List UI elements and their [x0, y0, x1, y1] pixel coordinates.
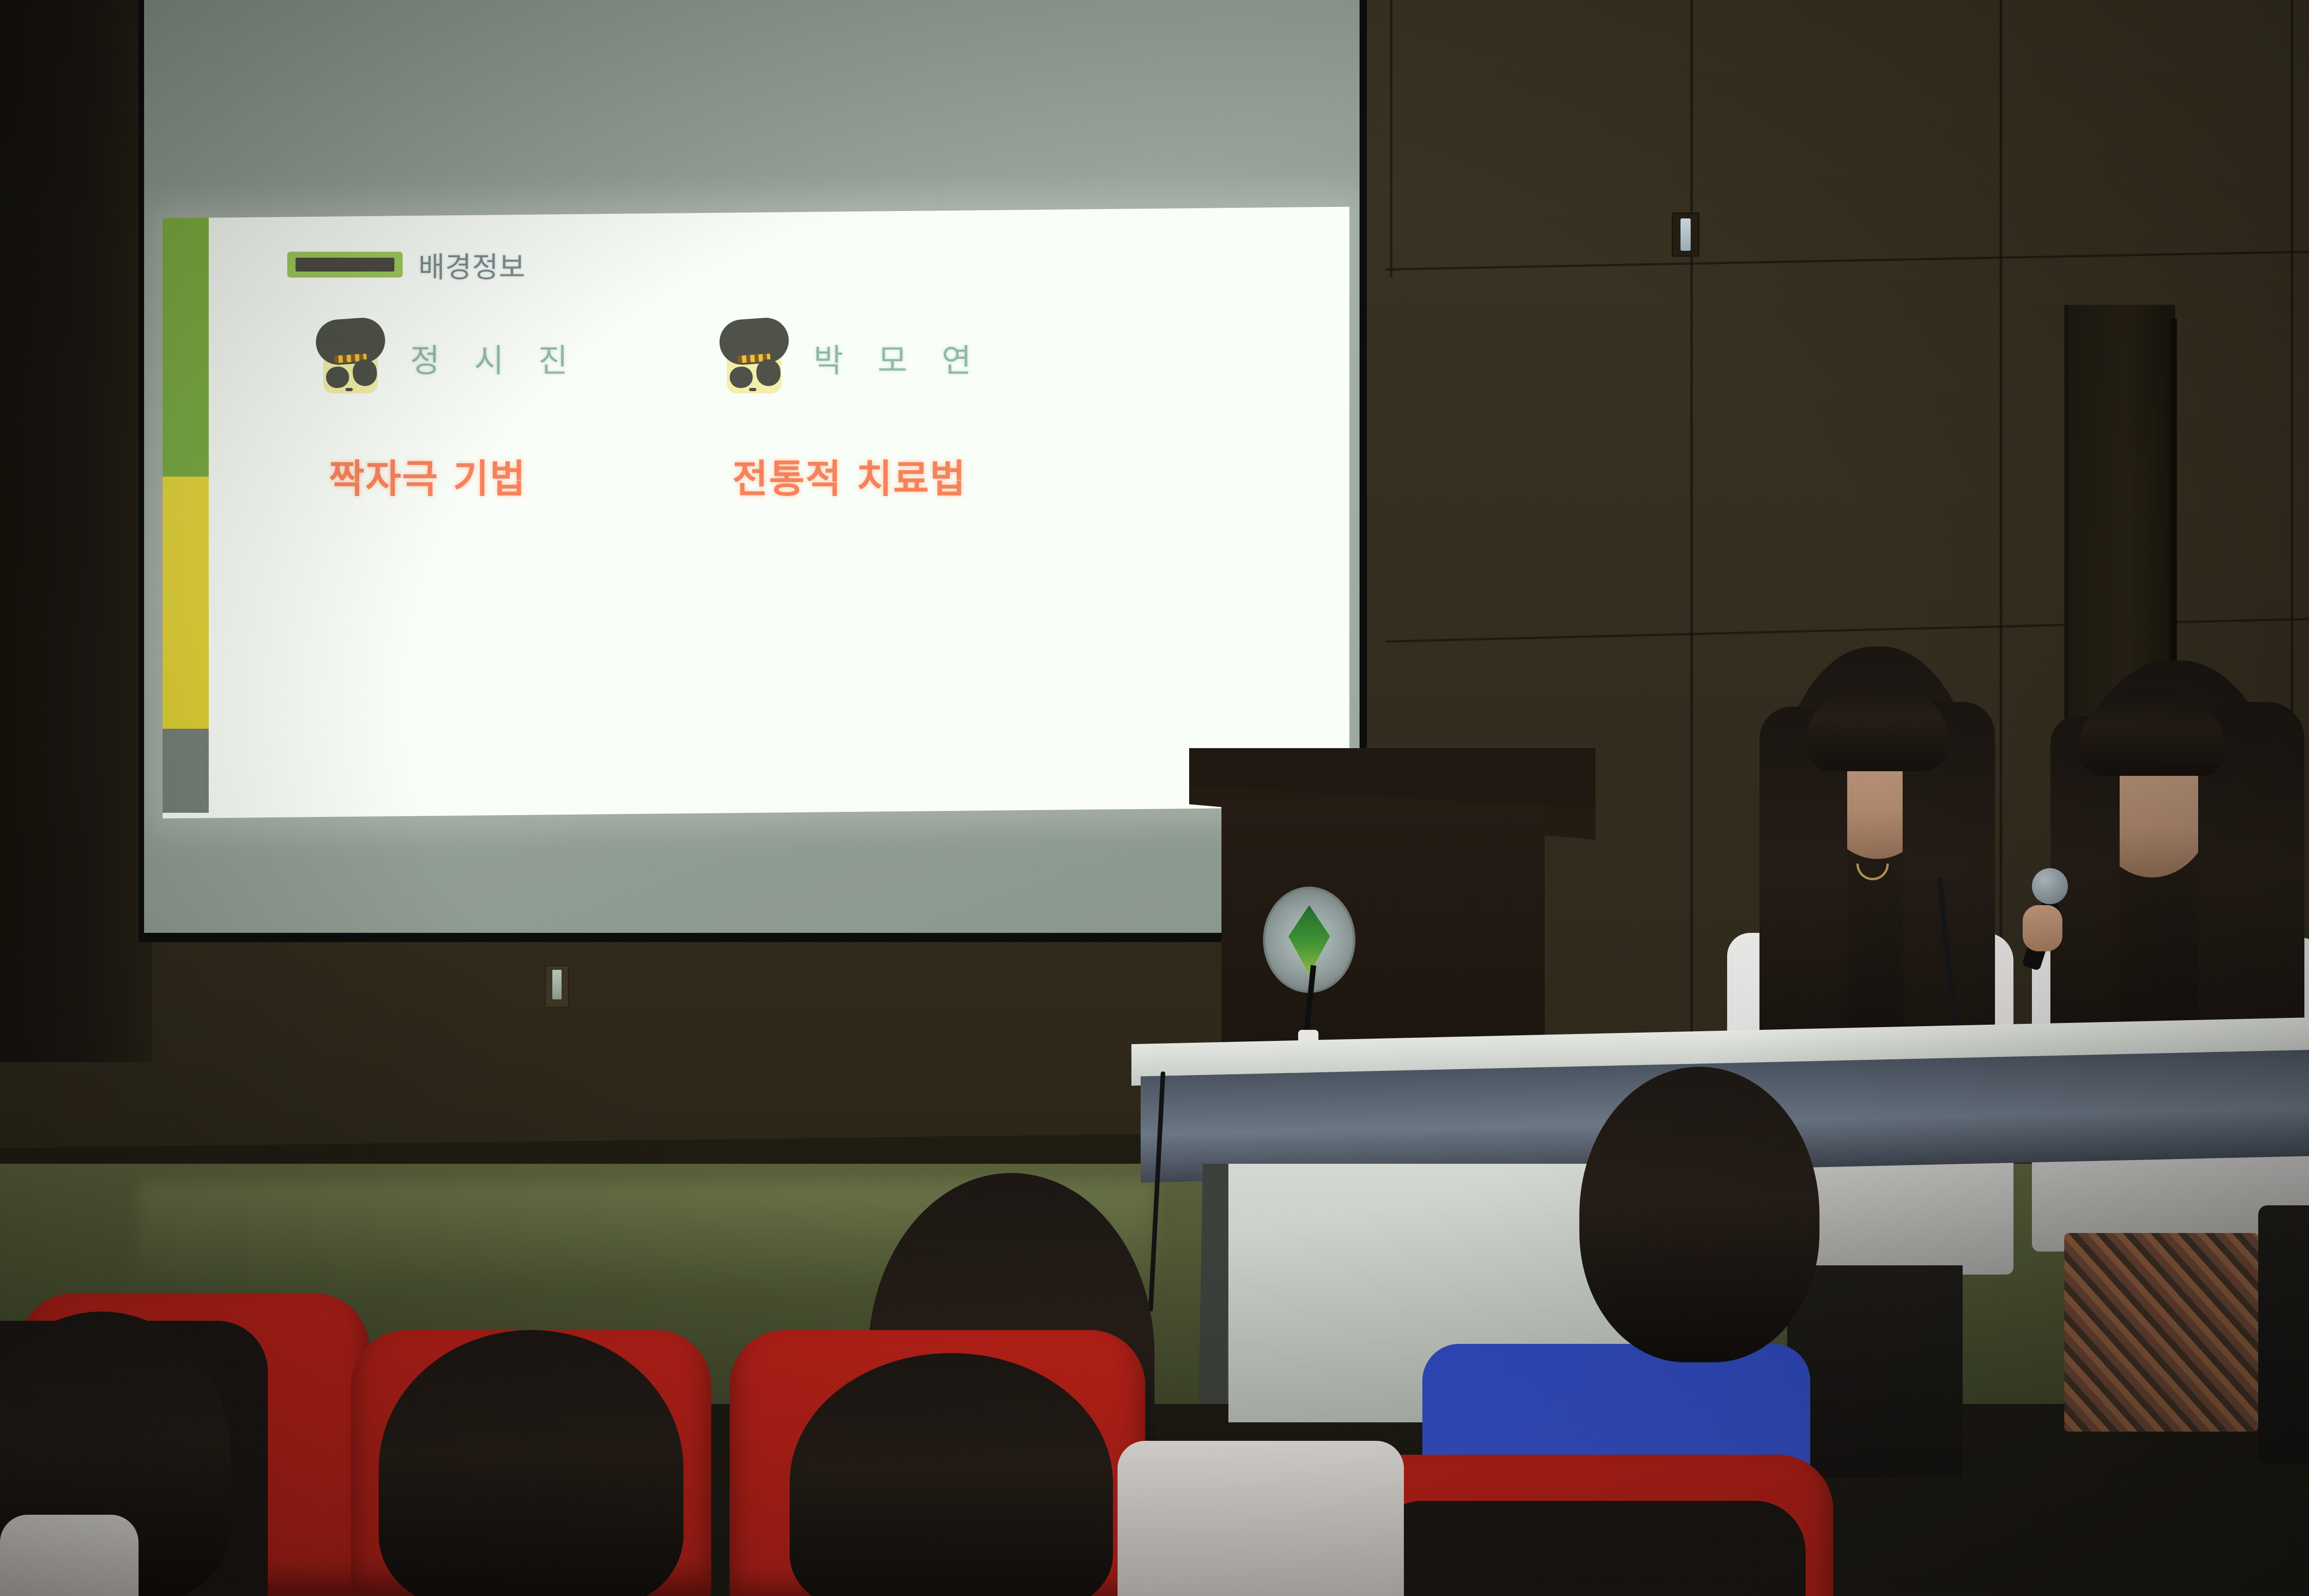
slide-header: 배경정보 — [287, 244, 526, 285]
audience-row-left-2 — [379, 1330, 702, 1596]
person-name: 정 시 진 — [410, 335, 580, 381]
presenter-legs — [1787, 1265, 1963, 1478]
left-wall-shadow — [0, 0, 152, 1062]
table-leg — [1198, 1164, 1230, 1404]
wall-seam — [1390, 0, 1392, 277]
slide-accent-bar — [163, 212, 209, 813]
cartoon-face-icon — [719, 319, 788, 397]
light-switch-icon[interactable] — [1672, 212, 1699, 257]
crest-diamond-icon — [1288, 905, 1330, 974]
slide-person-block: 박 모 연 전통적 치료법 — [719, 319, 984, 504]
presenter-bangs — [2078, 693, 2226, 776]
slide-person-columns: 정 시 진 짝자극 기법 박 모 연 전통적 치료법 — [315, 319, 1285, 504]
person-term: 짝자극 기법 — [329, 448, 526, 504]
audience-white-top — [1118, 1441, 1404, 1596]
presenter-legs — [2258, 1205, 2309, 1464]
projection-screen: 배경정보 정 시 진 짝자극 기법 — [144, 0, 1360, 933]
audience-head — [1579, 1067, 1819, 1362]
accent-gray-block — [163, 729, 209, 813]
person-term: 전통적 치료법 — [732, 448, 967, 504]
person-name: 박 모 연 — [814, 335, 984, 381]
wall-seam — [1690, 0, 1693, 1131]
accent-green-block — [163, 212, 209, 477]
cartoon-face-icon — [315, 319, 384, 397]
accent-yellow-block — [163, 477, 209, 729]
audience-center-2 — [776, 1353, 1136, 1596]
microphone-head — [2032, 868, 2068, 904]
audience-head — [790, 1353, 1113, 1596]
projected-slide: 배경정보 정 시 진 짝자극 기법 — [163, 207, 1349, 819]
chair-cushion — [1372, 1501, 1806, 1596]
presenter-hand — [2023, 905, 2062, 951]
patterned-skirt — [2064, 1233, 2258, 1432]
light-switch-icon[interactable] — [545, 965, 569, 1008]
audience-white-top — [0, 1515, 139, 1596]
audience-head — [379, 1330, 683, 1596]
slide-person-block: 정 시 진 짝자극 기법 — [315, 319, 580, 504]
slide-title: 배경정보 — [418, 244, 526, 285]
audience-blue-shirt — [1395, 1058, 1810, 1596]
green-bar-chip-icon — [287, 252, 403, 278]
presentation-scene: 배경정보 정 시 진 짝자극 기법 — [0, 0, 2309, 1596]
